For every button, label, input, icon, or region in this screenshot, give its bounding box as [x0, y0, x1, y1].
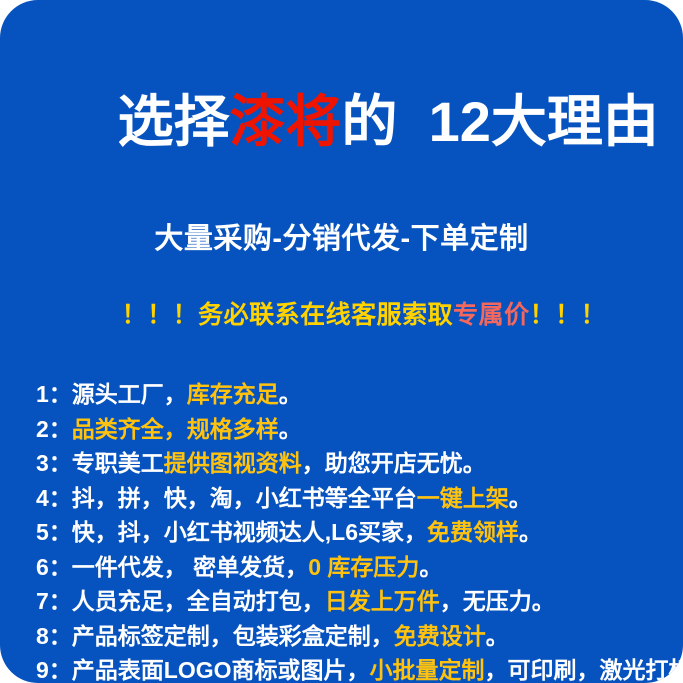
list-item-text: 产品标签定制，包装彩盒定制， — [72, 623, 394, 649]
list-item-index: 9： — [36, 657, 72, 683]
list-item-highlight-text: 日发上万件 — [325, 588, 440, 614]
list-item-text: 一件代发， 密单发货， — [72, 554, 308, 580]
list-item-text: 。 — [419, 554, 442, 580]
notice-prefix-exclamations: ！！！ — [122, 301, 199, 329]
promo-poster: 选择漆将的 12大理由 大量采购-分销代发-下单定制 ！！！务必联系在线客服索取… — [0, 0, 683, 683]
list-item-index: 7： — [36, 588, 72, 614]
list-item-index: 4： — [36, 485, 72, 511]
list-item-text: 。 — [279, 416, 302, 442]
list-item: 9：产品表面LOGO商标或图片，小批量定制，可印刷，激光打标。 — [36, 653, 683, 683]
list-item: 3：专职美工提供图视资料，助您开店无忧。 — [36, 446, 683, 481]
title-segment-particle: 的 — [341, 90, 397, 153]
poster-header: 选择漆将的 12大理由 大量采购-分销代发-下单定制 ！！！务必联系在线客服索取… — [0, 0, 683, 363]
list-item-text: ，可印刷，激光打标。 — [485, 657, 683, 683]
list-item-highlight-text: 免费设计 — [394, 623, 486, 649]
list-item-text: 。 — [486, 623, 509, 649]
poster-subtitle: 大量采购-分销代发-下单定制 — [0, 221, 683, 257]
list-item-highlight-text: 一键上架 — [417, 485, 509, 511]
title-segment-count: 12大理由 — [397, 90, 658, 153]
list-item: 4：抖，拼，快，淘，小红书等全平台一键上架。 — [36, 481, 683, 516]
list-item-index: 6： — [36, 554, 72, 580]
list-item-text: 产品表面LOGO商标或图片， — [72, 657, 370, 683]
list-item-index: 5： — [36, 519, 72, 545]
list-item: 8：产品标签定制，包装彩盒定制，免费设计。 — [36, 619, 683, 654]
list-item: 1：源头工厂，库存充足。 — [36, 377, 683, 412]
list-item-highlight-text: 0 库存压力 — [308, 554, 419, 580]
list-item-text: 抖，拼，快，淘，小红书等全平台 — [72, 485, 417, 511]
title-brand-name: 漆将 — [229, 90, 341, 153]
title-segment-prefix: 选择 — [117, 90, 229, 153]
list-item-text: 源头工厂， — [72, 381, 187, 407]
list-item-index: 8： — [36, 623, 72, 649]
list-item-text: 专职美工 — [72, 450, 164, 476]
notice-suffix-exclamations: ！！！ — [530, 301, 607, 329]
reason-list: 1：源头工厂，库存充足。2：品类齐全，规格多样。3：专职美工提供图视资料，助您开… — [0, 377, 683, 683]
list-item-highlight-text: 提供图视资料 — [164, 450, 302, 476]
list-item: 7：人员充足，全自动打包，日发上万件，无压力。 — [36, 584, 683, 619]
list-item-text: 人员充足，全自动打包， — [72, 588, 325, 614]
list-item-text: 快，抖，小红书视频达人,L6买家， — [72, 519, 427, 545]
list-item-highlight-text: 库存充足 — [187, 381, 279, 407]
list-item-highlight-text: 免费领样 — [427, 519, 519, 545]
list-item: 5：快，抖，小红书视频达人,L6买家，免费领样。 — [36, 515, 683, 550]
list-item-highlight-text: 小批量定制 — [370, 657, 485, 683]
contact-service-notice: ！！！务必联系在线客服索取专属价！！！ — [0, 267, 683, 363]
notice-exclusive-price-highlight: 专属价 — [453, 301, 530, 329]
list-item: 6：一件代发， 密单发货，0 库存压力。 — [36, 550, 683, 585]
list-item-text: 。 — [519, 519, 542, 545]
list-item-text: 。 — [509, 485, 532, 511]
list-item-index: 2： — [36, 416, 72, 442]
page-title: 选择漆将的 12大理由 — [0, 26, 683, 218]
list-item-text: 。 — [279, 381, 302, 407]
list-item-text: ，无压力。 — [440, 588, 555, 614]
list-item-index: 1： — [36, 381, 72, 407]
notice-body-text: 务必联系在线客服索取 — [198, 301, 453, 329]
list-item: 2：品类齐全，规格多样。 — [36, 412, 683, 447]
list-item-text: ，助您开店无忧。 — [302, 450, 486, 476]
list-item-index: 3： — [36, 450, 72, 476]
list-item-highlight-text: 品类齐全，规格多样 — [72, 416, 279, 442]
